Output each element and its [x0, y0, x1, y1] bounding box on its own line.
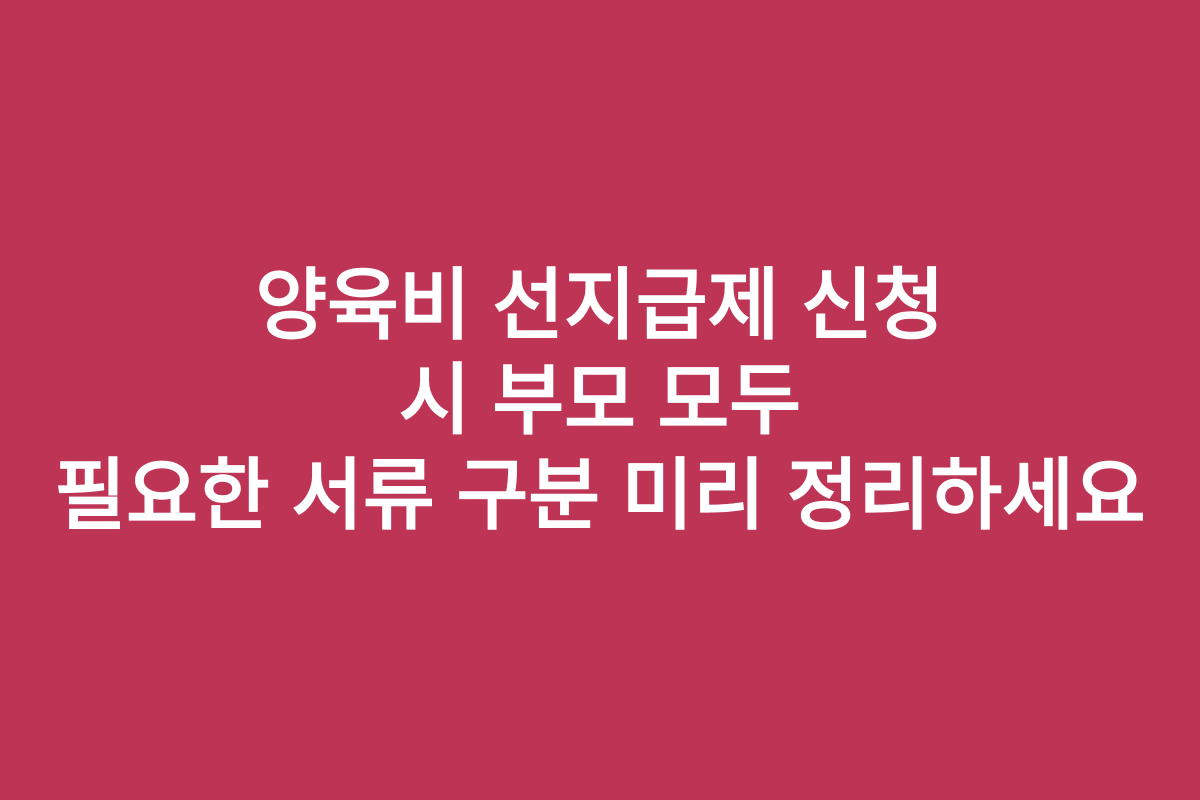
- headline-block: 양육비 선지급제 신청 시 부모 모두 필요한 서류 구분 미리 정리하세요: [0, 258, 1200, 543]
- headline-line-3: 필요한 서류 구분 미리 정리하세요: [54, 448, 1145, 543]
- promo-banner: 양육비 선지급제 신청 시 부모 모두 필요한 서류 구분 미리 정리하세요: [0, 0, 1200, 800]
- headline-line-1: 양육비 선지급제 신청: [255, 258, 944, 353]
- headline-line-2: 시 부모 모두: [399, 353, 801, 448]
